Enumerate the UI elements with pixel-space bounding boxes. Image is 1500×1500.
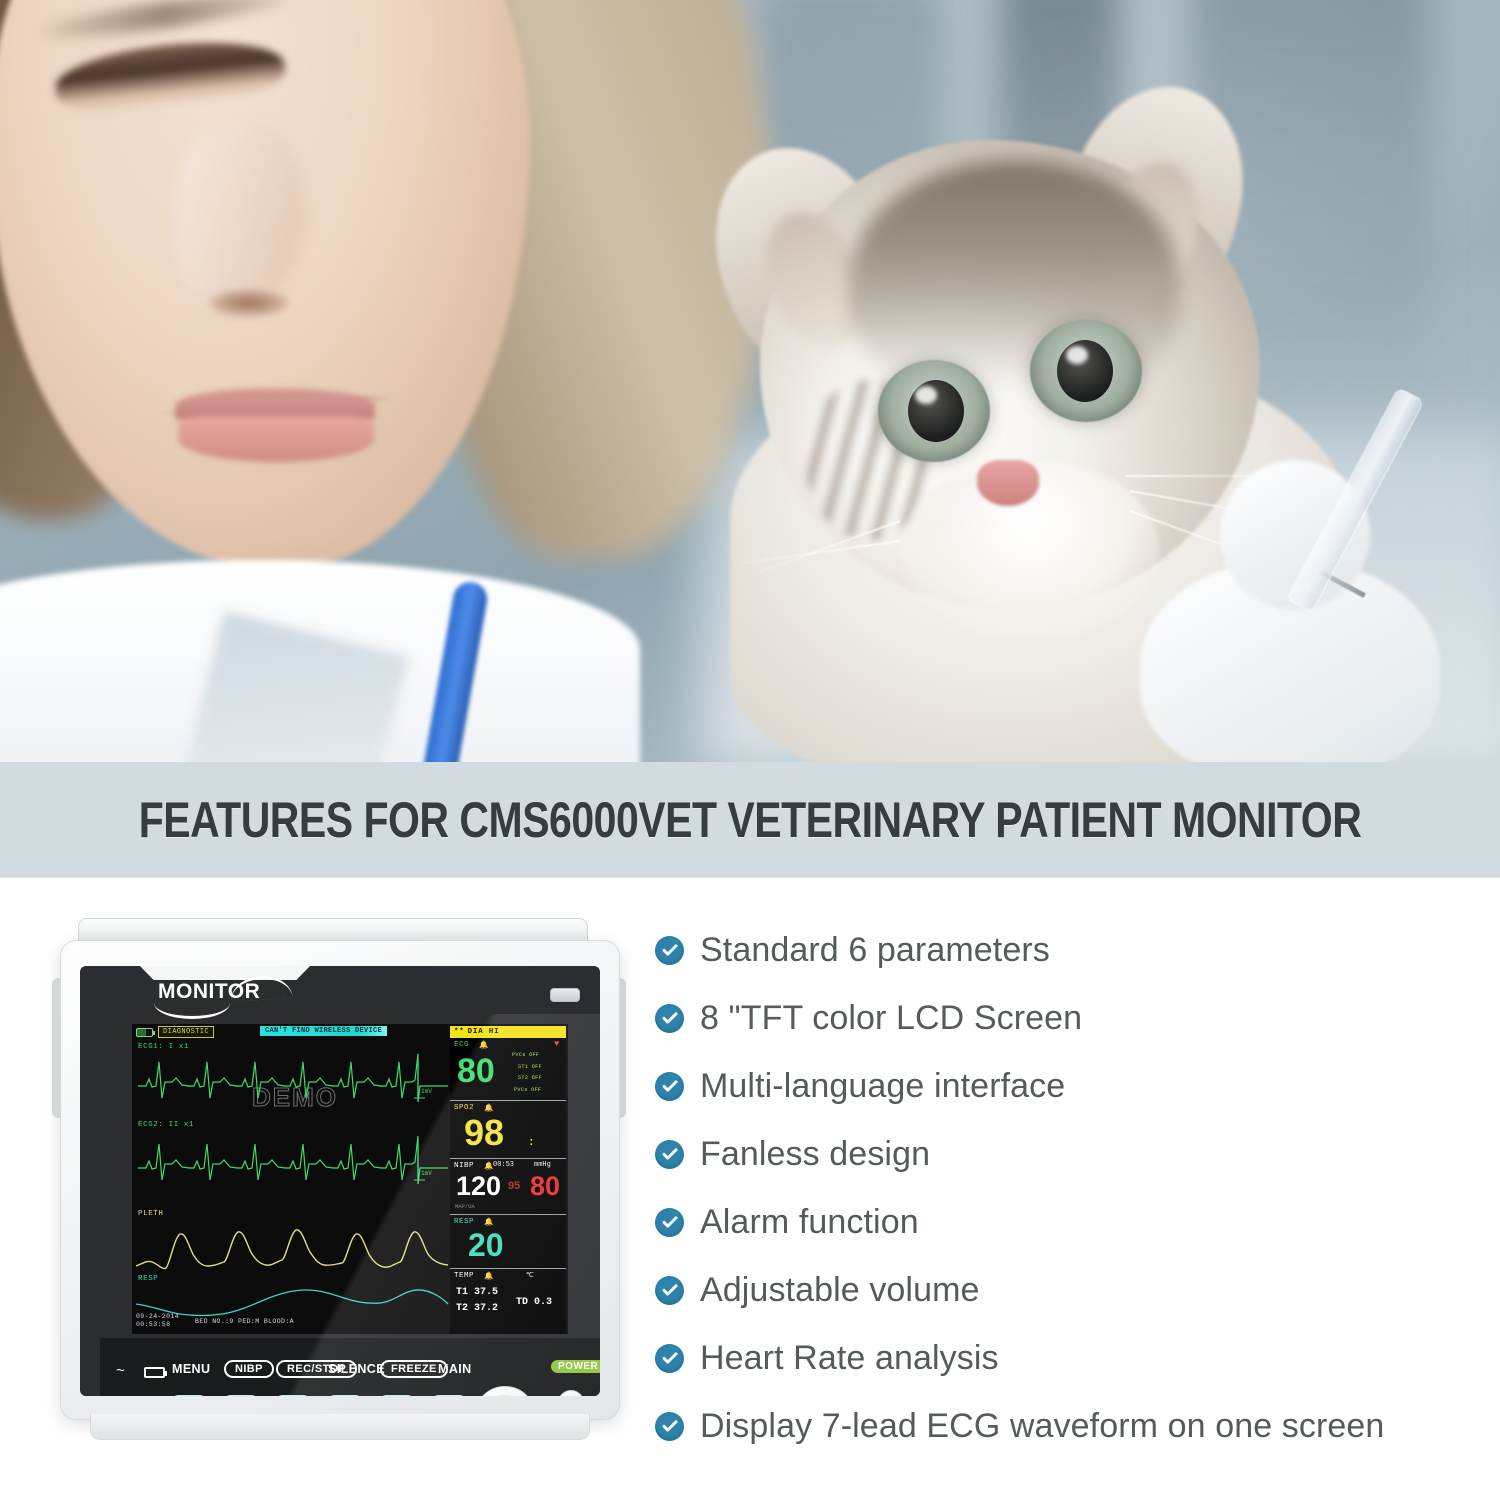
date-label: 09-24-2014 — [136, 1313, 179, 1321]
feature-item: Heart Rate analysis — [655, 1324, 1455, 1392]
lcd-screen[interactable]: DIAGNOSTIC CAN'T FIND WIRELESS DEVICE EC… — [132, 1024, 568, 1334]
alarm-text: DIA HI — [468, 1028, 500, 1036]
check-circle-icon — [655, 1208, 684, 1237]
spo2-value: 98 — [464, 1115, 504, 1151]
ecg-indicator-st1: ST1 OFF — [518, 1064, 542, 1070]
navigation-knob-inner — [483, 1395, 529, 1396]
ecg-indicator-pvcs: PVCs OFF — [512, 1052, 539, 1058]
screen-footer: 09-24-2014 00:53:58 BED NO.:9 PED:M BLOO… — [136, 1310, 446, 1332]
menu-button[interactable] — [170, 1395, 208, 1396]
time-label: 00:53:58 — [136, 1321, 179, 1329]
device-base — [90, 1414, 590, 1440]
brand-underline-icon — [154, 1003, 230, 1019]
device-bezel: MONITOR DIAGNOSTIC CAN'T FIND WIRELESS D… — [80, 966, 600, 1396]
param-box-nibp[interactable]: NIBP 🔔 00:53 mmHg 120 95 80 MAP/UA — [450, 1158, 566, 1214]
control-panel: ~ MENU NIBP REC/STOP SILENCE FREEZE MAIN — [100, 1338, 600, 1396]
kitten-nose — [977, 460, 1039, 506]
alarm-bell-icon: 🔔 — [484, 1271, 491, 1278]
features-list: Standard 6 parameters 8 "TFT color LCD S… — [655, 916, 1455, 1460]
alarm-banner: ** DIA HI — [450, 1026, 566, 1038]
lower-lip — [178, 416, 374, 462]
alarm-bell-icon: 🔔 — [484, 1103, 491, 1110]
power-icon: ⏻ — [566, 1395, 576, 1396]
timestamp: 09-24-2014 00:53:58 — [136, 1313, 179, 1329]
feature-label: Heart Rate analysis — [700, 1339, 999, 1378]
param-box-spo2[interactable]: SPO2 🔔 98 : — [450, 1100, 566, 1158]
waveform-area: DIAGNOSTIC CAN'T FIND WIRELESS DEVICE EC… — [132, 1024, 450, 1334]
temp-param-label: TEMP — [454, 1272, 474, 1280]
silence-button-label: SILENCE — [328, 1362, 385, 1376]
spo2-param-label: SPO2 — [454, 1104, 474, 1112]
ecg-param-label: ECG — [454, 1041, 469, 1049]
temp-unit: ℃ — [526, 1271, 534, 1280]
feature-label: Multi-language interface — [700, 1067, 1065, 1106]
check-circle-icon — [655, 1412, 684, 1441]
check-circle-icon — [655, 1072, 684, 1101]
feature-label: Standard 6 parameters — [700, 931, 1050, 970]
feature-item: Display 7-lead ECG waveform on one scree… — [655, 1392, 1455, 1460]
nibp-unit: mmHg — [534, 1161, 551, 1169]
check-circle-icon — [655, 1344, 684, 1373]
feature-label: Fanless design — [700, 1135, 930, 1174]
nibp-button-label: NIBP — [224, 1360, 274, 1378]
freeze-button[interactable] — [378, 1395, 416, 1396]
param-box-resp[interactable]: RESP 🔔 20 — [450, 1214, 566, 1268]
resp-param-label: RESP — [454, 1218, 474, 1226]
bezel-notch — [140, 966, 310, 980]
patient-info-label: BED NO.:9 PED:M BLOOD:A — [195, 1318, 294, 1325]
feature-item: Multi-language interface — [655, 1052, 1455, 1120]
ac-power-icon: ~ — [116, 1362, 125, 1379]
feature-item: Adjustable volume — [655, 1256, 1455, 1324]
feature-item: Alarm function — [655, 1188, 1455, 1256]
main-button-label: MAIN — [438, 1362, 472, 1376]
kitten-eye-glint — [1066, 346, 1088, 364]
nibp-diastolic-value: 80 — [530, 1173, 560, 1200]
indicator-led — [550, 988, 580, 1002]
alarm-stars-icon: ** — [454, 1028, 465, 1036]
nostril — [210, 290, 288, 316]
heart-icon: ♥ — [554, 1040, 563, 1048]
content-section: MONITOR DIAGNOSTIC CAN'T FIND WIRELESS D… — [0, 878, 1500, 1500]
nibp-sub-label: MAP/UA — [455, 1203, 475, 1210]
temp-td-value: 0.3 — [534, 1297, 552, 1308]
silence-button[interactable] — [326, 1395, 364, 1396]
alarm-bell-icon: 🔔 — [484, 1217, 491, 1224]
ecg-indicator-pvcs2: PVCs OFF — [514, 1087, 541, 1093]
hero-photo — [0, 0, 1500, 762]
feature-item: 8 "TFT color LCD Screen — [655, 984, 1455, 1052]
rec-stop-button[interactable] — [274, 1395, 312, 1396]
menu-button-label: MENU — [172, 1362, 210, 1376]
alarm-bell-icon: 🔔 — [479, 1040, 486, 1047]
resp-value: 20 — [468, 1229, 504, 1261]
navigation-knob[interactable] — [474, 1386, 536, 1396]
ecg-heart-rate-value: 80 — [457, 1054, 495, 1088]
nibp-param-label: NIBP — [454, 1162, 474, 1170]
parameter-panel: ** DIA HI ECG 🔔 ♥ 80 PVCs OFF ST1 OFF — [450, 1024, 568, 1334]
spo2-bar-icon: : — [528, 1137, 535, 1149]
check-circle-icon — [655, 1276, 684, 1305]
feature-item: Fanless design — [655, 1120, 1455, 1188]
kitten-photo — [700, 20, 1500, 762]
temp-t2-label: T2 — [456, 1303, 468, 1314]
feature-item: Standard 6 parameters — [655, 916, 1455, 984]
title-banner: FEATURES FOR CMS6000VET VETERINARY PATIE… — [0, 762, 1500, 878]
feature-label: Alarm function — [700, 1203, 919, 1242]
param-box-temp[interactable]: TEMP 🔔 ℃ T1 37.5 T2 37.2 — [450, 1268, 566, 1334]
main-button[interactable] — [430, 1395, 468, 1396]
check-circle-icon — [655, 1140, 684, 1169]
patient-monitor-device: MONITOR DIAGNOSTIC CAN'T FIND WIRELESS D… — [60, 918, 620, 1443]
alarm-bell-icon: 🔔 — [484, 1161, 491, 1168]
temp-t2-value: 37.2 — [474, 1303, 498, 1314]
power-label: POWER — [551, 1360, 600, 1373]
feature-label: Display 7-lead ECG waveform on one scree… — [700, 1407, 1384, 1446]
temp-td-label: TD — [516, 1297, 528, 1308]
nibp-mean-value: 95 — [508, 1181, 520, 1192]
nibp-timer: 00:53 — [493, 1161, 514, 1169]
nibp-button[interactable] — [222, 1395, 260, 1396]
page-title: FEATURES FOR CMS6000VET VETERINARY PATIE… — [139, 791, 1362, 848]
battery-status-icon — [144, 1367, 165, 1378]
check-circle-icon — [655, 1004, 684, 1033]
ecg-indicator-st2: ST2 OFF — [518, 1075, 542, 1081]
waveform-traces — [132, 1024, 450, 1334]
temp-t1-label: T1 — [456, 1287, 468, 1298]
feature-label: Adjustable volume — [700, 1271, 980, 1310]
feature-label: 8 "TFT color LCD Screen — [700, 999, 1082, 1038]
kitten-eye-glint — [915, 386, 937, 404]
power-button[interactable]: ⏻ — [558, 1390, 584, 1396]
temp-t1-value: 37.5 — [474, 1287, 498, 1298]
veterinarian-photo — [0, 0, 780, 762]
param-box-ecg[interactable]: ECG 🔔 ♥ 80 PVCs OFF ST1 OFF ST2 OFF PVCs… — [450, 1038, 566, 1100]
check-circle-icon — [655, 936, 684, 965]
nibp-systolic-value: 120 — [456, 1173, 501, 1200]
